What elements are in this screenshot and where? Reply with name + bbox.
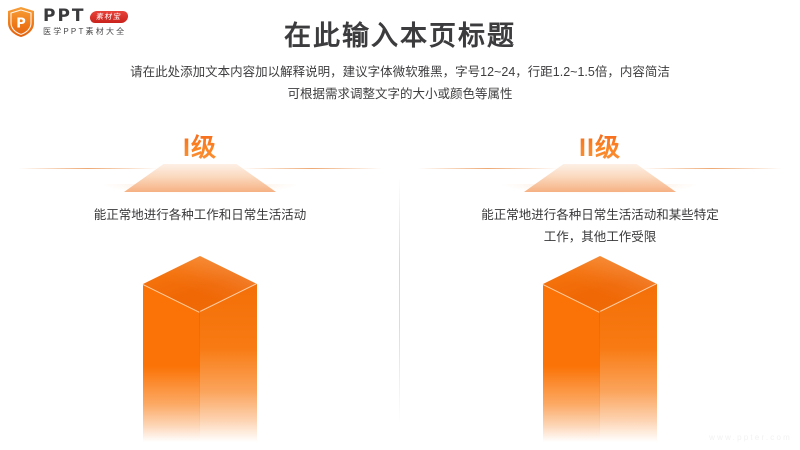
heading-rule-left: [418, 168, 558, 169]
level-heading-group-1: I级: [0, 128, 400, 196]
column-level-1: I级 能正常地进行各种工作和日常生活活动: [0, 0, 400, 450]
bar-3d-2: [520, 250, 680, 450]
description-line-1: 能正常地进行各种工作和日常生活活动: [20, 205, 380, 227]
heading-rule-right: [242, 168, 382, 169]
level-description-2: 能正常地进行各种日常生活活动和某些特定 工作，其他工作受限: [420, 205, 780, 249]
heading-rule-right: [642, 168, 782, 169]
description-line-1: 能正常地进行各种日常生活活动和某些特定: [420, 205, 780, 227]
level-label-2: II级: [400, 128, 800, 164]
level-heading-group-2: II级: [400, 128, 800, 196]
bar-3d-1: [120, 250, 280, 450]
level-description-1: 能正常地进行各种工作和日常生活活动: [20, 205, 380, 227]
level-label-1: I级: [0, 128, 400, 164]
slide-canvas: P PPT 素材宝 医学PPT素材大全 在此输入本页标题 请在此处添加文本内容加…: [0, 0, 800, 450]
watermark: www.ppter.com: [709, 433, 792, 442]
description-line-2: 工作，其他工作受限: [420, 227, 780, 249]
heading-rule-left: [18, 168, 158, 169]
column-level-2: II级 能正常地进行各种日常生活活动和某些特定 工作，其他工作受限: [400, 0, 800, 450]
